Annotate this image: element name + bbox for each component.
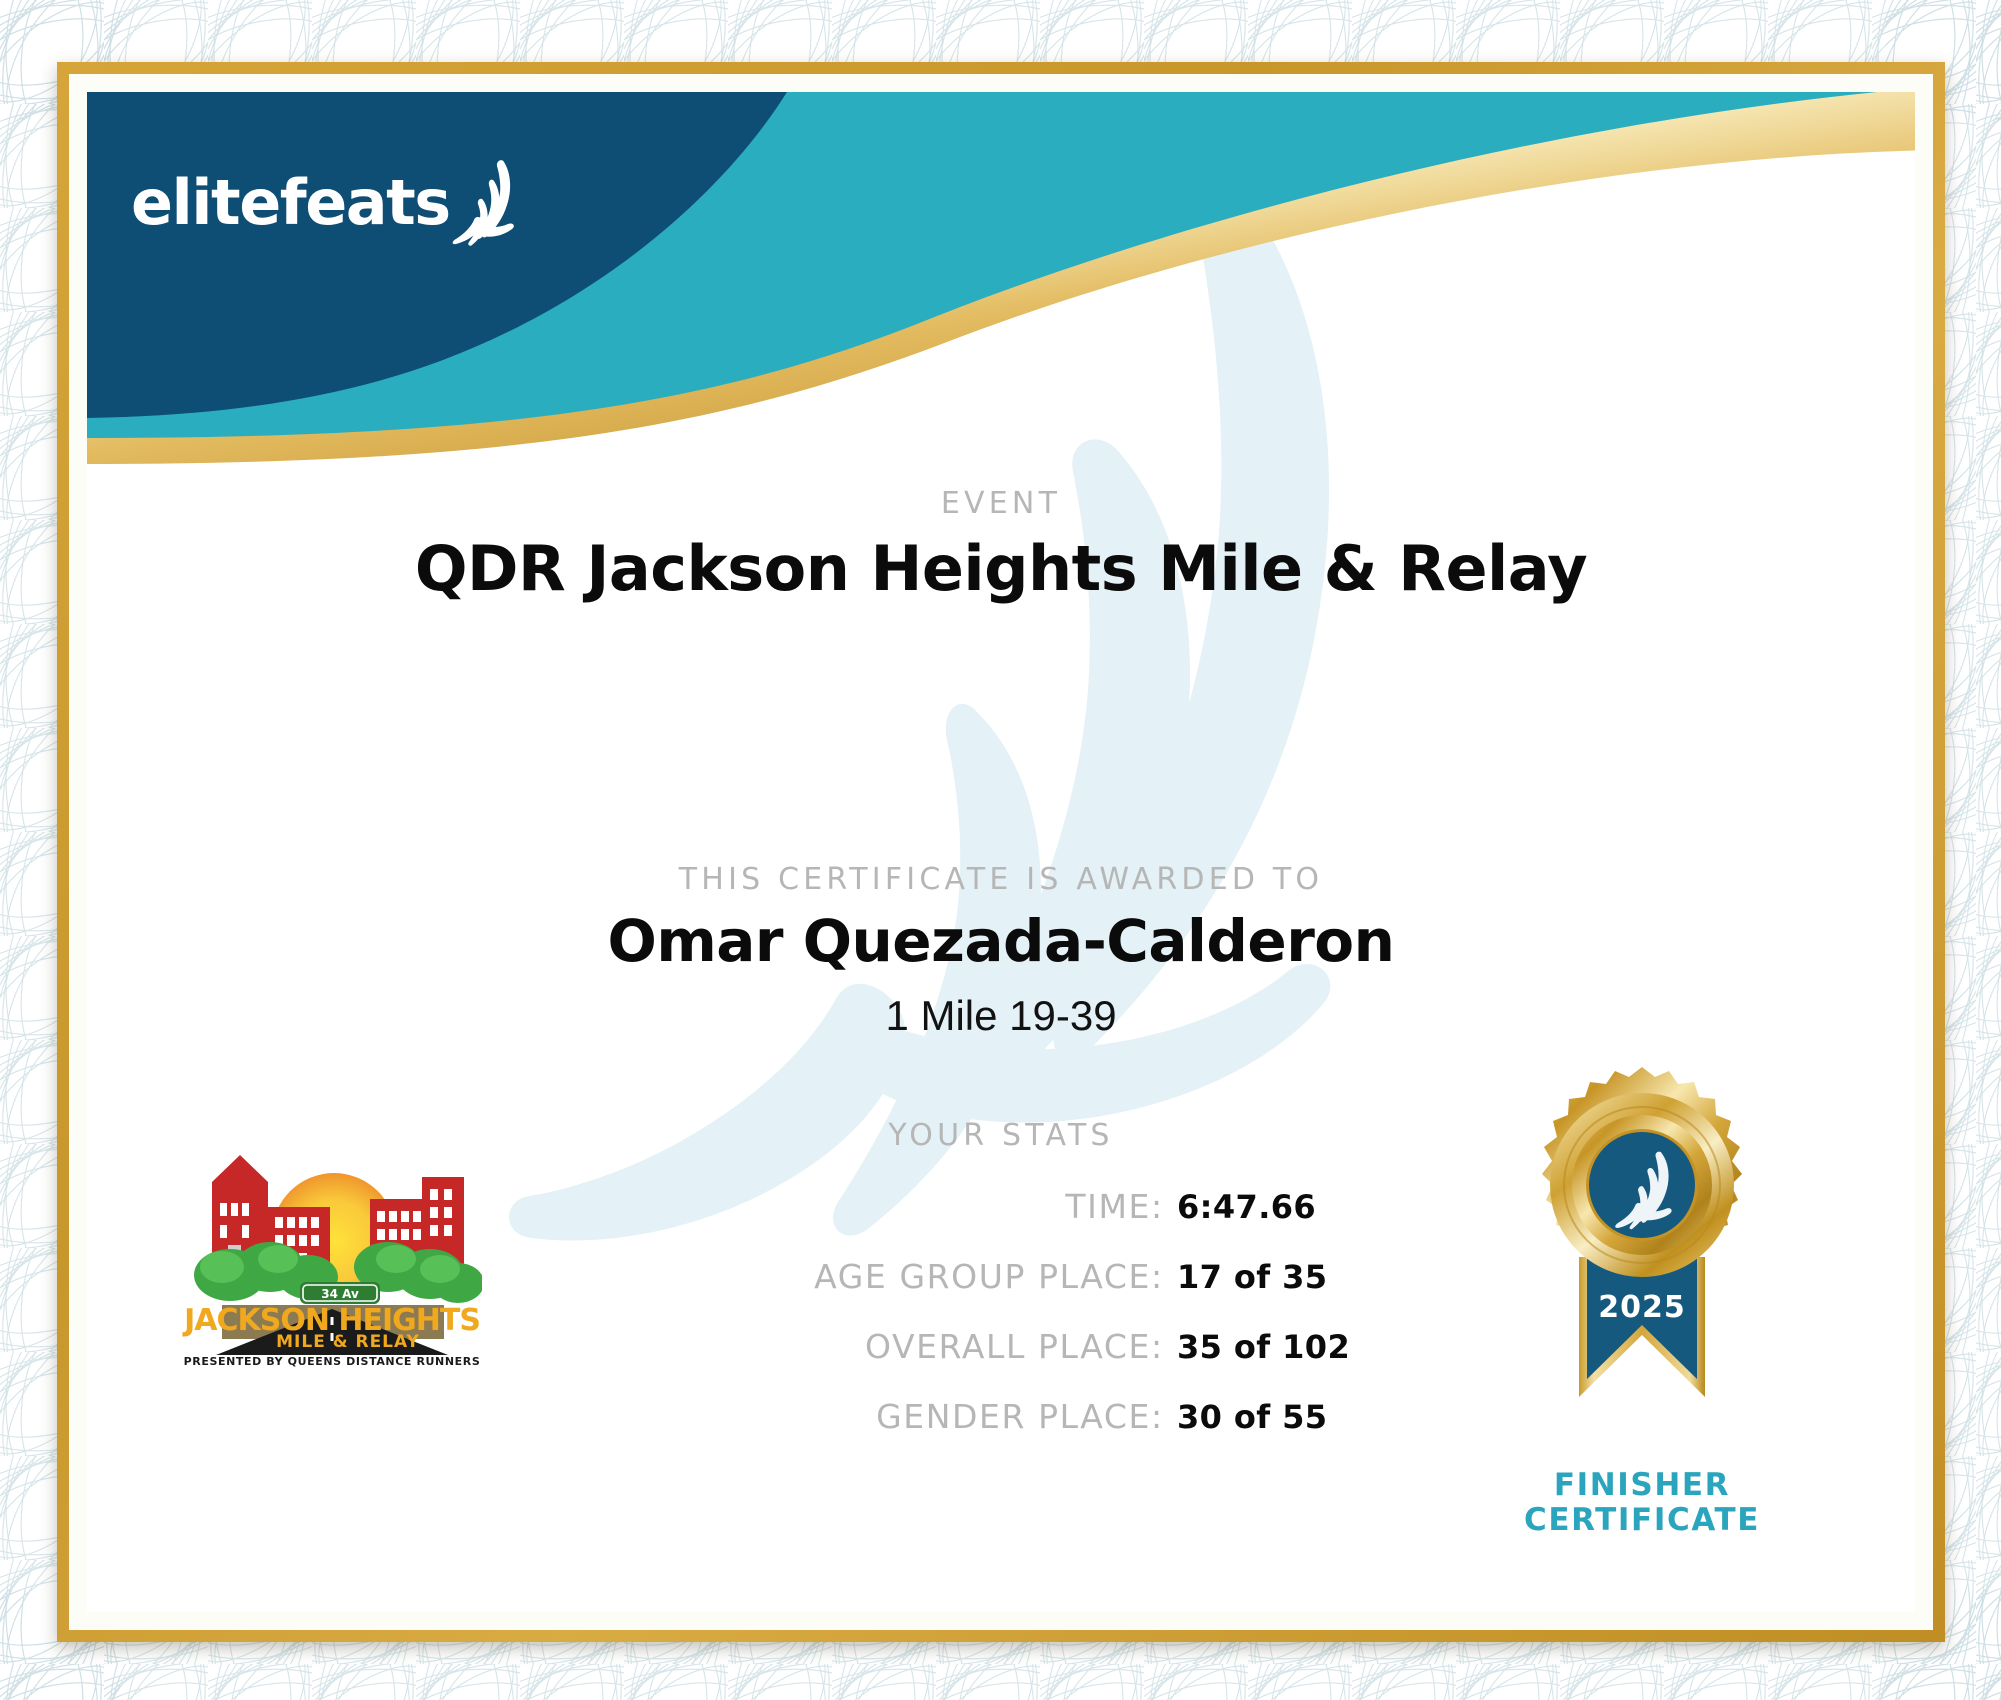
certificate-inner-mat: elitefeats EVENT QDR Jackson Heights Mil… (69, 74, 1933, 1630)
stat-colon: : (1151, 1187, 1171, 1226)
stat-label: OVERALL PLACE (571, 1327, 1151, 1366)
gold-rosette-medal-icon: 2025 (1517, 1067, 1767, 1462)
winged-foot-icon (452, 160, 518, 246)
stat-colon: : (1151, 1257, 1171, 1296)
event-label: EVENT (87, 486, 1915, 521)
badge-year: 2025 (1598, 1290, 1686, 1325)
stat-colon: : (1151, 1327, 1171, 1366)
stat-label: TIME (571, 1187, 1151, 1226)
division-name: 1 Mile 19-39 (87, 992, 1915, 1040)
certificate-gold-border: elitefeats EVENT QDR Jackson Heights Mil… (57, 62, 1945, 1642)
watermark-winged-foot-icon (507, 152, 1567, 1332)
stat-row-overall-place: OVERALL PLACE : 35 of 102 (571, 1327, 1551, 1397)
badge-caption-line2: CERTIFICATE (1487, 1503, 1797, 1538)
event-title: QDR Jackson Heights Mile & Relay (87, 532, 1915, 605)
stat-label: GENDER PLACE (571, 1397, 1151, 1436)
stat-row-age-group-place: AGE GROUP PLACE : 17 of 35 (571, 1257, 1551, 1327)
jackson-heights-race-logo: 34 Av JACKSON HEIGHTS MILE & RELAY PRESE… (182, 1127, 482, 1377)
street-sign-label: 34 Av (321, 1287, 359, 1301)
elitefeats-logo: elitefeats (131, 150, 481, 255)
certificate-page: elitefeats EVENT QDR Jackson Heights Mil… (0, 0, 2001, 1700)
stat-row-gender-place: GENDER PLACE : 30 of 55 (571, 1397, 1551, 1467)
awarded-to-label: THIS CERTIFICATE IS AWARDED TO (87, 862, 1915, 897)
header-swoosh-decoration (87, 92, 1915, 472)
badge-caption-line1: FINISHER (1487, 1468, 1797, 1503)
finisher-badge: 2025 (1487, 1067, 1797, 1537)
stat-colon: : (1151, 1397, 1171, 1436)
badge-caption: FINISHER CERTIFICATE (1487, 1468, 1797, 1537)
elitefeats-wordmark: elitefeats (131, 172, 450, 234)
stat-row-time: TIME : 6:47.66 (571, 1187, 1551, 1257)
race-logo-presented-by: PRESENTED BY QUEENS DISTANCE RUNNERS (184, 1355, 481, 1368)
stat-label: AGE GROUP PLACE (571, 1257, 1151, 1296)
recipient-name: Omar Quezada-Calderon (87, 907, 1915, 975)
race-logo-subtitle: MILE & RELAY (276, 1332, 420, 1352)
certificate-canvas: elitefeats EVENT QDR Jackson Heights Mil… (87, 92, 1915, 1612)
